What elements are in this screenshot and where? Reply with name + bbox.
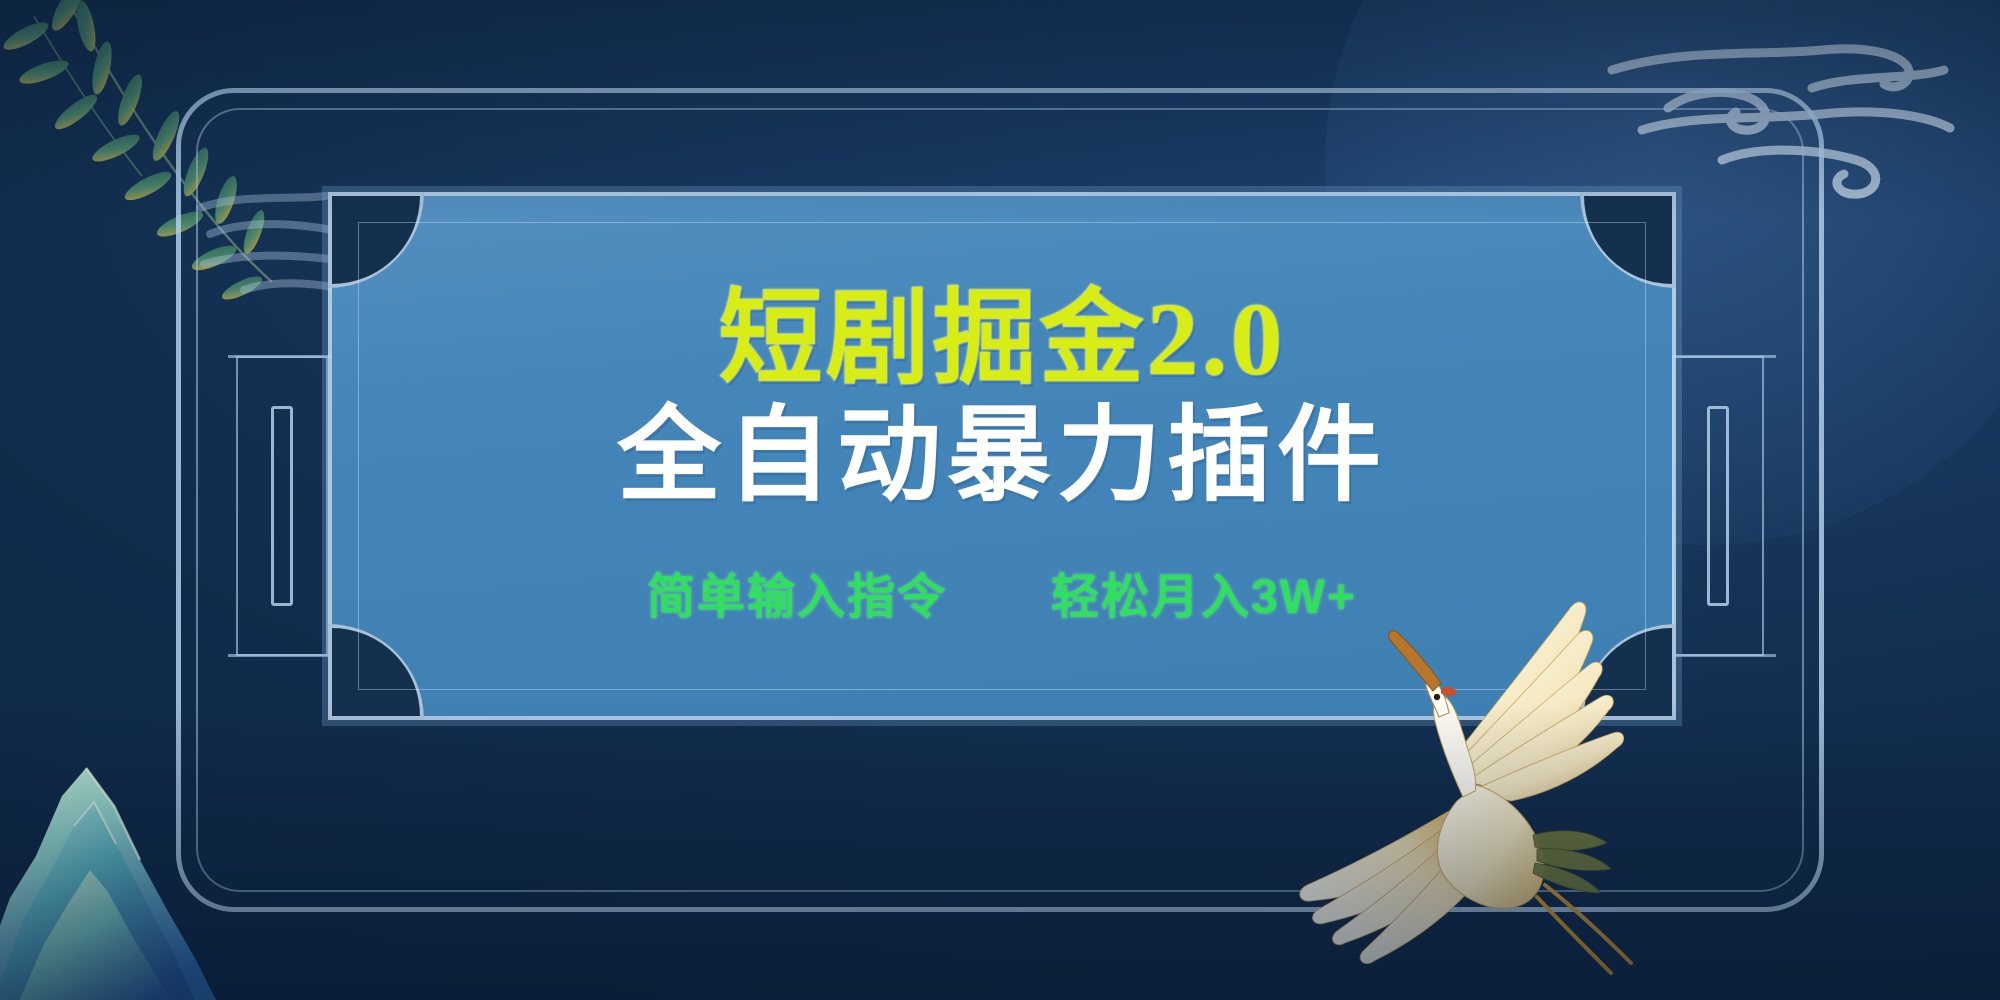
vignette-overlay <box>0 0 2000 1000</box>
poster-canvas: 短剧掘金2.0 全自动暴力插件 简单输入指令 轻松月入3W+ <box>0 0 2000 1000</box>
